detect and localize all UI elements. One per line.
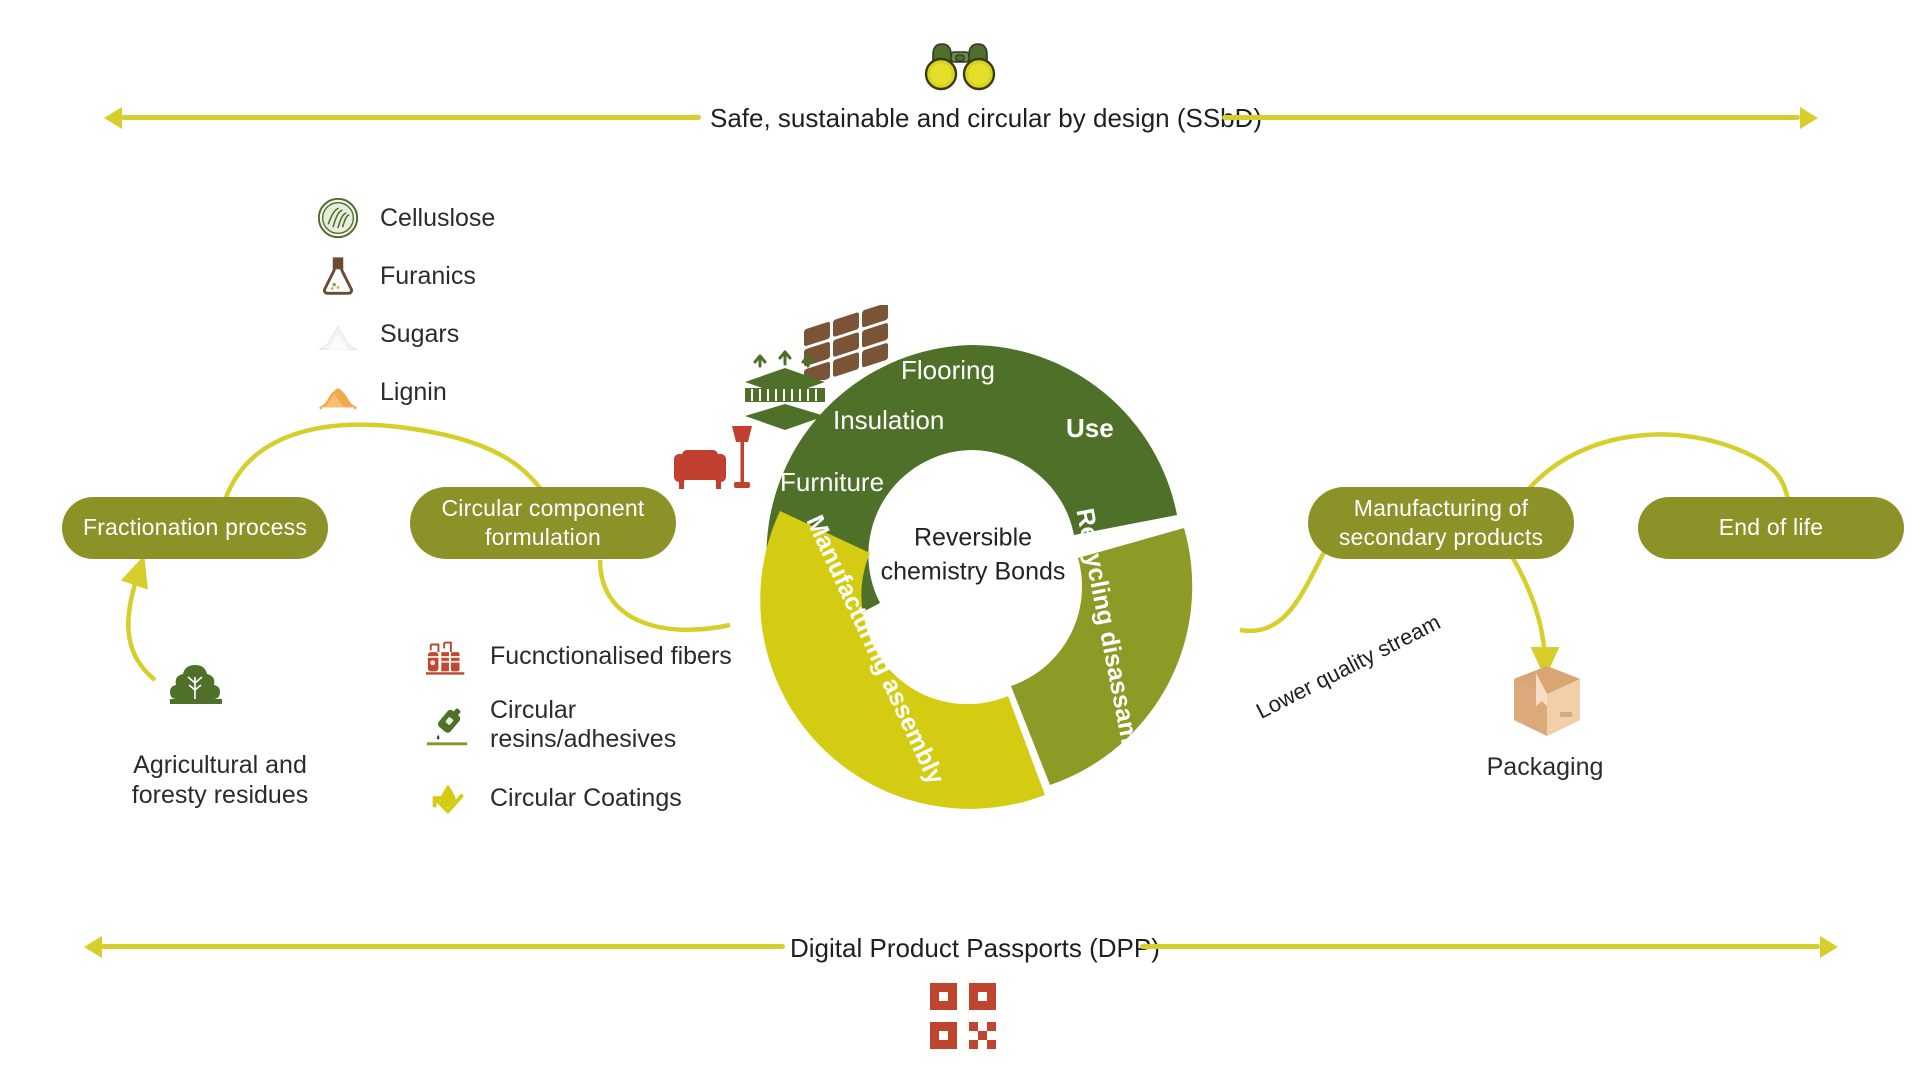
- pill-label: End of life: [1719, 513, 1824, 542]
- dpp-arrow-left-head: [84, 936, 102, 958]
- coating-drop-icon: [420, 770, 476, 826]
- legend-label-line1: Circular: [490, 696, 676, 725]
- factory-icon: [420, 628, 476, 684]
- packaging-label: Packaging: [1440, 752, 1650, 782]
- pill-label-line2: formulation: [485, 523, 601, 552]
- ssbd-arrow-left-head: [104, 107, 122, 129]
- top-banner: Safe, sustainable and circular by design…: [0, 18, 1920, 128]
- qr-code-icon: [930, 983, 996, 1049]
- glue-bottle-icon: [420, 700, 476, 756]
- biorefinery-legend: Celluslose Furanics Sugars: [310, 190, 630, 420]
- cellulose-disc-icon: [310, 190, 366, 246]
- ssbd-label: Safe, sustainable and circular by design…: [710, 103, 1210, 134]
- legend-label: Fucnctionalised fibers: [490, 642, 732, 671]
- cardboard-box-icon: [1508, 660, 1586, 745]
- donut-center-line2: chemistry Bonds: [848, 555, 1098, 589]
- pill-fractionation-process[interactable]: Fractionation process: [62, 497, 328, 559]
- dpp-arrow-right-head: [1820, 936, 1838, 958]
- donut-label-furniture: Furniture: [780, 467, 884, 498]
- legend-item-lignin: Lignin: [310, 364, 630, 420]
- donut-label-flooring: Flooring: [901, 355, 995, 386]
- legend-label: Sugars: [380, 320, 459, 349]
- dpp-line-left: [101, 944, 785, 949]
- binoculars-icon: [920, 36, 1000, 96]
- donut-center-line1: Reversible: [848, 521, 1098, 555]
- lower-quality-stream-label: Lower quality stream: [1252, 609, 1445, 724]
- ssbd-line-left: [121, 115, 701, 120]
- pill-circular-component-formulation[interactable]: Circular component formulation: [410, 487, 676, 559]
- donut-label-insulation: Insulation: [833, 405, 944, 436]
- pill-label: Fractionation process: [83, 513, 307, 542]
- legend-label-group: Circular resins/adhesives: [490, 696, 676, 754]
- feedstock-caption-line2: foresty residues: [90, 780, 350, 810]
- feedstock-caption-line1: Agricultural and: [90, 750, 350, 780]
- bottom-banner: Digital Product Passports (DPP): [0, 915, 1920, 1075]
- pill-label-line2: secondary products: [1339, 523, 1543, 552]
- donut-label-use: Use: [1066, 413, 1114, 444]
- legend-label: Circular Coatings: [490, 784, 682, 813]
- pill-manufacturing-secondary-products[interactable]: Manufacturing of secondary products: [1308, 487, 1574, 559]
- sugar-pile-icon: [310, 306, 366, 362]
- pill-label-line1: Circular component: [441, 494, 644, 523]
- ssbd-arrow-right-head: [1800, 107, 1818, 129]
- legend-label: Celluslose: [380, 204, 495, 233]
- legend-item-cellulose: Celluslose: [310, 190, 630, 246]
- bush-shrub-icon: [165, 655, 235, 717]
- donut-center-text: Reversible chemistry Bonds: [848, 521, 1098, 589]
- legend-item-furanics: Furanics: [310, 248, 630, 304]
- legend-label: Furanics: [380, 262, 476, 291]
- circular-economy-donut: Flooring Insulation Furniture Use Recycl…: [718, 300, 1228, 810]
- lignin-powder-icon: [310, 364, 366, 420]
- legend-item-sugars: Sugars: [310, 306, 630, 362]
- pill-label-line1: Manufacturing of: [1354, 494, 1529, 523]
- pill-end-of-life[interactable]: End of life: [1638, 497, 1904, 559]
- legend-label-line2: resins/adhesives: [490, 725, 676, 754]
- flask-icon: [310, 248, 366, 304]
- ssbd-line-right: [1222, 115, 1800, 120]
- dpp-label: Digital Product Passports (DPP): [790, 933, 1130, 964]
- dpp-line-right: [1140, 944, 1820, 949]
- legend-label: Lignin: [380, 378, 447, 407]
- lower-quality-stream-label-wrap: Lower quality stream: [1258, 700, 1461, 726]
